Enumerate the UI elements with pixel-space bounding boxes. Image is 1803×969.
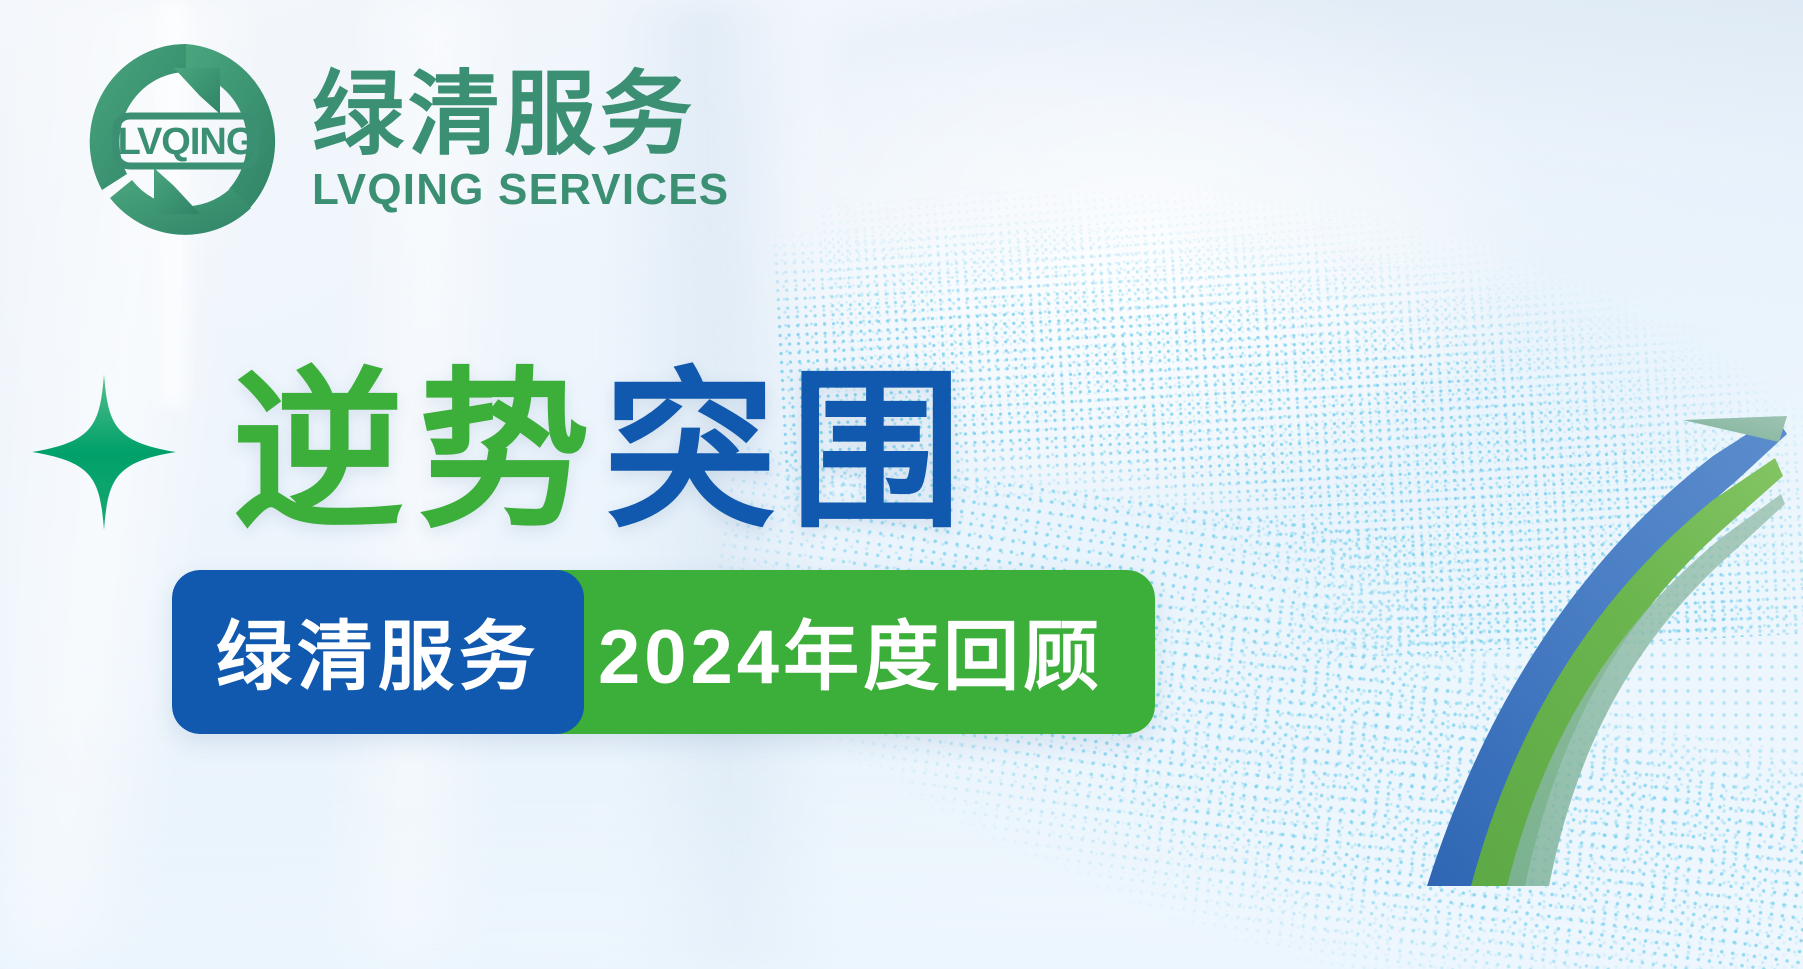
headline-part-green: 逆势: [232, 356, 604, 548]
brand-logo: LVQING 绿清服务 LVQING SERVICES: [88, 38, 729, 244]
subtitle-pill-green: 2024年度回顾: [558, 570, 1155, 734]
annual-review-poster: LVQING 绿清服务 LVQING SERVICES 逆势突围 2024年度回…: [0, 0, 1803, 969]
background-floor-glow: [0, 717, 1803, 969]
brand-name-en: LVQING SERVICES: [312, 167, 729, 214]
subtitle-bar: 2024年度回顾 绿清服务: [172, 570, 1155, 734]
headline-row: 逆势突围: [30, 366, 976, 538]
headline-part-blue: 突围: [604, 356, 976, 548]
svg-text:LVQING: LVQING: [118, 121, 255, 163]
brand-name-cn: 绿清服务: [312, 69, 729, 163]
recycle-ring-icon: LVQING: [88, 38, 284, 244]
four-point-sparkle-icon: [30, 372, 178, 532]
page-title: 逆势突围: [232, 366, 976, 538]
subtitle-pill-blue: 绿清服务: [172, 570, 584, 734]
